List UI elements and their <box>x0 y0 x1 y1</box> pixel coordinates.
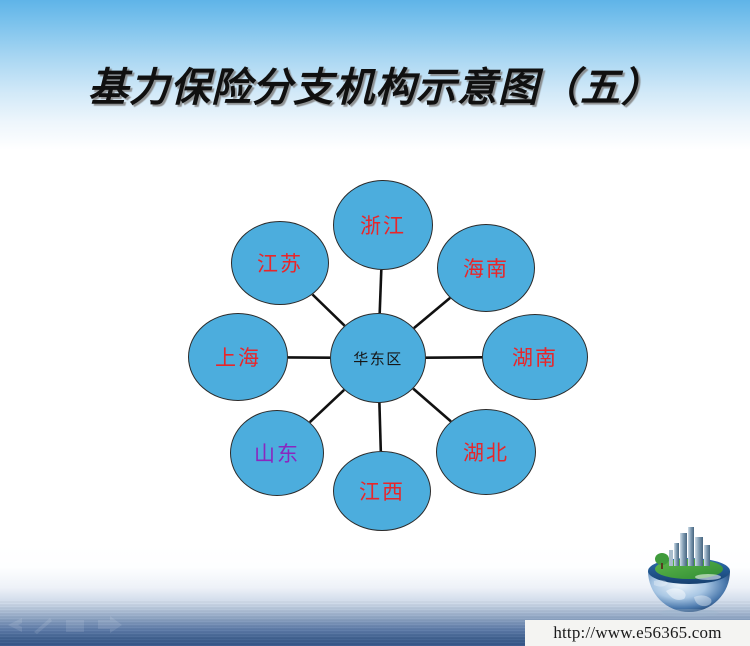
watermark-bar: http://www.e56365.com <box>525 620 750 646</box>
diagram-node-label: 江西 <box>359 476 405 506</box>
diagram-node-label: 湖南 <box>512 342 558 372</box>
diagram-node-label: 江苏 <box>257 248 303 278</box>
diagram-node-8[interactable]: 海南 <box>437 224 535 312</box>
diagram-node-label: 浙江 <box>360 210 406 240</box>
diagram-node-6[interactable]: 湖北 <box>436 409 536 495</box>
diagram-node-3[interactable]: 上海 <box>188 313 288 401</box>
diagram-edge <box>380 270 382 313</box>
diagram-edge <box>379 403 380 451</box>
diagram-node-label: 华东区 <box>353 348 403 369</box>
slide-canvas: 基力保险分支机构示意图（五） 浙江江苏上海山东江西湖北湖南海南华东区 <box>0 0 750 646</box>
diagram-node-1[interactable]: 浙江 <box>333 180 433 270</box>
diagram-node-5[interactable]: 江西 <box>333 451 431 531</box>
diagram-node-label: 湖北 <box>463 437 509 467</box>
diagram-edge <box>413 389 451 422</box>
diagram-edge <box>310 390 344 422</box>
diagram-node-7[interactable]: 湖南 <box>482 314 588 400</box>
globe-city-logo <box>636 519 742 617</box>
diagram-node-label: 海南 <box>463 253 509 283</box>
diagram-node-2[interactable]: 江苏 <box>231 221 329 305</box>
watermark-url: http://www.e56365.com <box>553 623 721 643</box>
diagram-node-4[interactable]: 山东 <box>230 410 324 496</box>
diagram-edge <box>414 298 450 328</box>
diagram-node-label: 上海 <box>215 342 261 372</box>
diagram-node-center[interactable]: 华东区 <box>330 313 426 403</box>
diagram-node-label: 山东 <box>254 438 300 468</box>
diagram-edge <box>313 295 345 326</box>
